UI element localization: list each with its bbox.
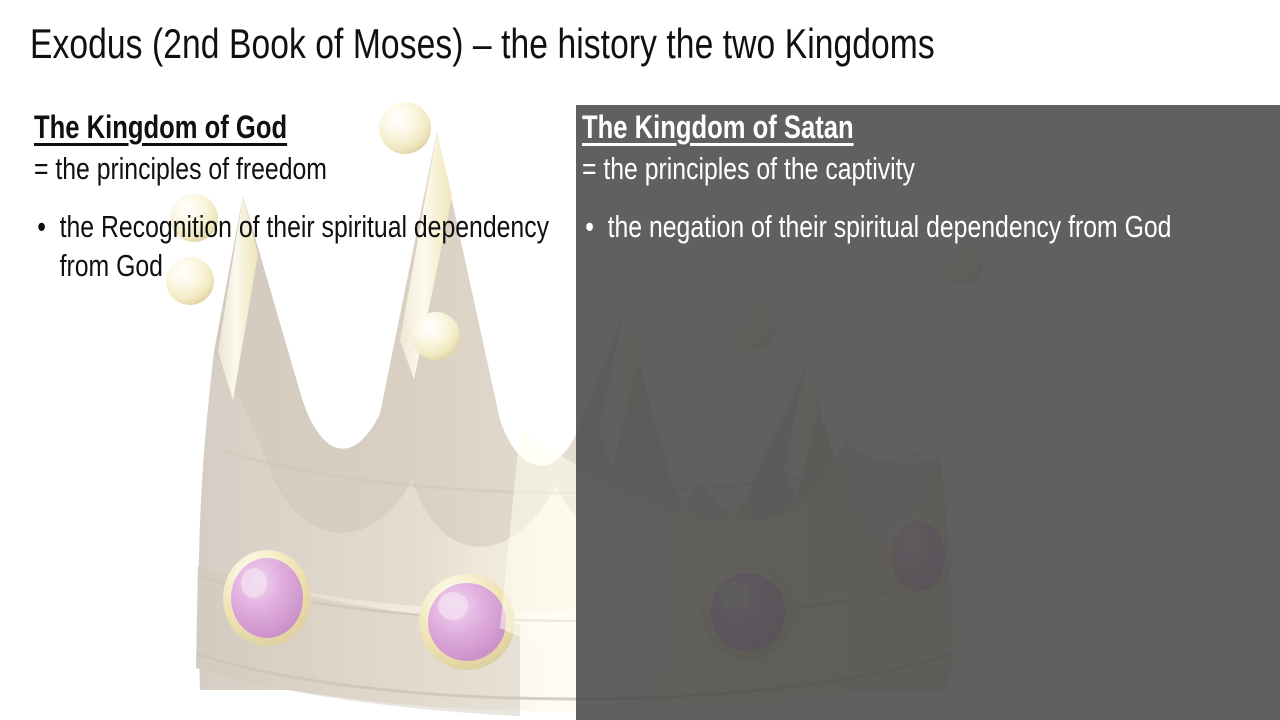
pearl-4 [412, 312, 460, 360]
page-title: Exodus (2nd Book of Moses) – the history… [30, 18, 1006, 70]
kingdom-of-god-column: The Kingdom of God = the principles of f… [34, 108, 586, 285]
list-item: • the Recognition of their spiritual dep… [34, 207, 586, 285]
left-column-heading: The Kingdom of God [34, 108, 287, 146]
list-item-label: the Recognition of their spiritual depen… [60, 209, 549, 283]
left-column-bullet-list: • the Recognition of their spiritual dep… [34, 207, 586, 285]
list-item: • the negation of their spiritual depend… [582, 207, 1280, 246]
jewel-left [223, 550, 311, 646]
right-column-heading: The Kingdom of Satan [582, 108, 854, 146]
right-column-definition: = the principles of the captivity [582, 149, 1280, 188]
right-column-bullet-list: • the negation of their spiritual depend… [582, 207, 1280, 246]
bullet-icon: • [37, 207, 46, 246]
jewel-center [419, 574, 515, 670]
bullet-icon: • [585, 207, 594, 246]
list-item-label: the negation of their spiritual dependen… [608, 209, 1172, 244]
slide-canvas: Exodus (2nd Book of Moses) – the history… [0, 0, 1280, 720]
left-column-definition: = the principles of freedom [34, 149, 586, 188]
kingdom-of-satan-column: The Kingdom of Satan = the principles of… [582, 108, 1280, 246]
